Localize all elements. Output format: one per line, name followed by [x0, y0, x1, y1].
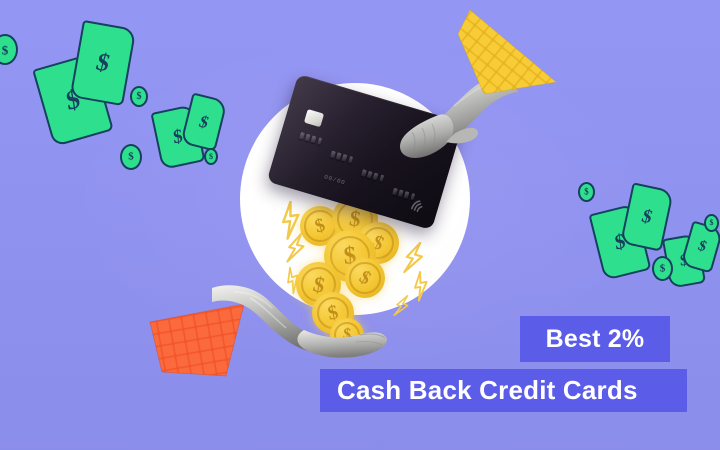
dollar-sign-glyph: $ [710, 219, 714, 227]
dollar-sign-glyph: $ [209, 153, 213, 161]
dollar-sign-glyph: $ [660, 263, 666, 274]
green-coin-6: $ [652, 256, 673, 281]
status-badge-best-rate: Best 2% [520, 316, 670, 362]
dollar-sign-glyph: $ [137, 92, 142, 102]
dollar-sign-glyph: $ [696, 239, 709, 255]
hero-graphic: $$$$$$$$$$$$$$$$$$$$$$$ [0, 0, 720, 450]
dollar-sign-glyph: $ [639, 207, 654, 227]
dollar-sign-glyph: $ [584, 188, 589, 197]
dollar-sign-glyph: $ [93, 50, 112, 76]
green-coin-7: $ [704, 214, 719, 232]
sleeve-yellow-checkered [454, 6, 562, 98]
dollar-sign-glyph: $ [313, 216, 327, 237]
green-coin-4: $ [204, 148, 218, 165]
green-coin-3: $ [120, 144, 142, 170]
dollar-sign-glyph: $ [197, 113, 211, 131]
green-coin-2: $ [130, 86, 148, 107]
dollar-sign-glyph: $ [128, 152, 134, 163]
dollar-sign-glyph: $ [2, 43, 9, 56]
green-coin-5: $ [578, 182, 595, 202]
dollar-sign-glyph: $ [348, 207, 362, 230]
page-title: Cash Back Credit Cards [320, 369, 687, 412]
open-palm-hand-icon [210, 282, 390, 368]
